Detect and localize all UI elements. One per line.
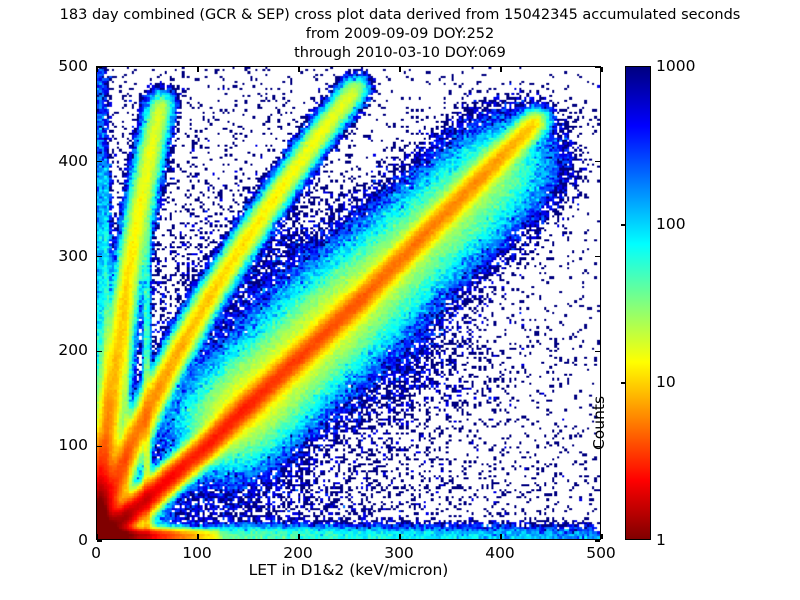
y-tick	[97, 66, 102, 67]
colorbar-tick	[621, 224, 626, 225]
y-tick	[97, 256, 102, 257]
figure-canvas: 183 day combined (GCR & SEP) cross plot …	[0, 0, 800, 600]
plot-area	[96, 66, 601, 540]
x-tick	[197, 534, 198, 539]
colorbar-tick-label: 1	[656, 531, 666, 549]
x-tick-label: 400	[485, 544, 515, 562]
colorbar-tick-label: 100	[656, 215, 686, 233]
x-tick-label: 500	[586, 544, 616, 562]
y-tick-right	[595, 256, 600, 257]
y-tick-right	[595, 161, 600, 162]
y-tick-label: 400	[30, 152, 88, 170]
y-tick	[97, 540, 102, 541]
colorbar-label: Counts	[590, 303, 608, 543]
y-tick	[97, 351, 102, 352]
y-tick-label: 500	[30, 57, 88, 75]
x-tick	[96, 534, 97, 539]
colorbar	[625, 66, 651, 540]
colorbar-tick-label: 1000	[656, 57, 695, 75]
y-tick-label: 200	[30, 341, 88, 359]
x-tick-top	[96, 67, 97, 72]
x-tick-top	[500, 67, 501, 72]
colorbar-tick	[621, 382, 626, 383]
x-tick	[399, 534, 400, 539]
x-tick	[298, 534, 299, 539]
x-tick-label: 100	[182, 544, 212, 562]
x-tick-top	[197, 67, 198, 72]
x-tick-top	[298, 67, 299, 72]
x-tick-label: 0	[91, 544, 101, 562]
x-tick	[500, 534, 501, 539]
title-line-2: from 2009-09-09 DOY:252	[0, 25, 800, 44]
y-tick-label: 300	[30, 247, 88, 265]
title-line-1: 183 day combined (GCR & SEP) cross plot …	[0, 6, 800, 25]
x-axis-label: LET in D1&2 (keV/micron)	[96, 561, 601, 579]
colorbar-gradient	[626, 67, 650, 539]
x-tick-label: 300	[384, 544, 414, 562]
x-tick-label: 200	[283, 544, 313, 562]
y-tick-right	[595, 66, 600, 67]
density-heatmap	[97, 67, 600, 539]
y-tick-label: 100	[30, 436, 88, 454]
colorbar-tick-label: 10	[656, 373, 676, 391]
y-tick	[97, 446, 102, 447]
y-tick	[97, 161, 102, 162]
y-tick-label: 0	[30, 531, 88, 549]
x-tick-top	[399, 67, 400, 72]
x-tick-top	[601, 67, 602, 72]
chart-title: 183 day combined (GCR & SEP) cross plot …	[0, 6, 800, 63]
